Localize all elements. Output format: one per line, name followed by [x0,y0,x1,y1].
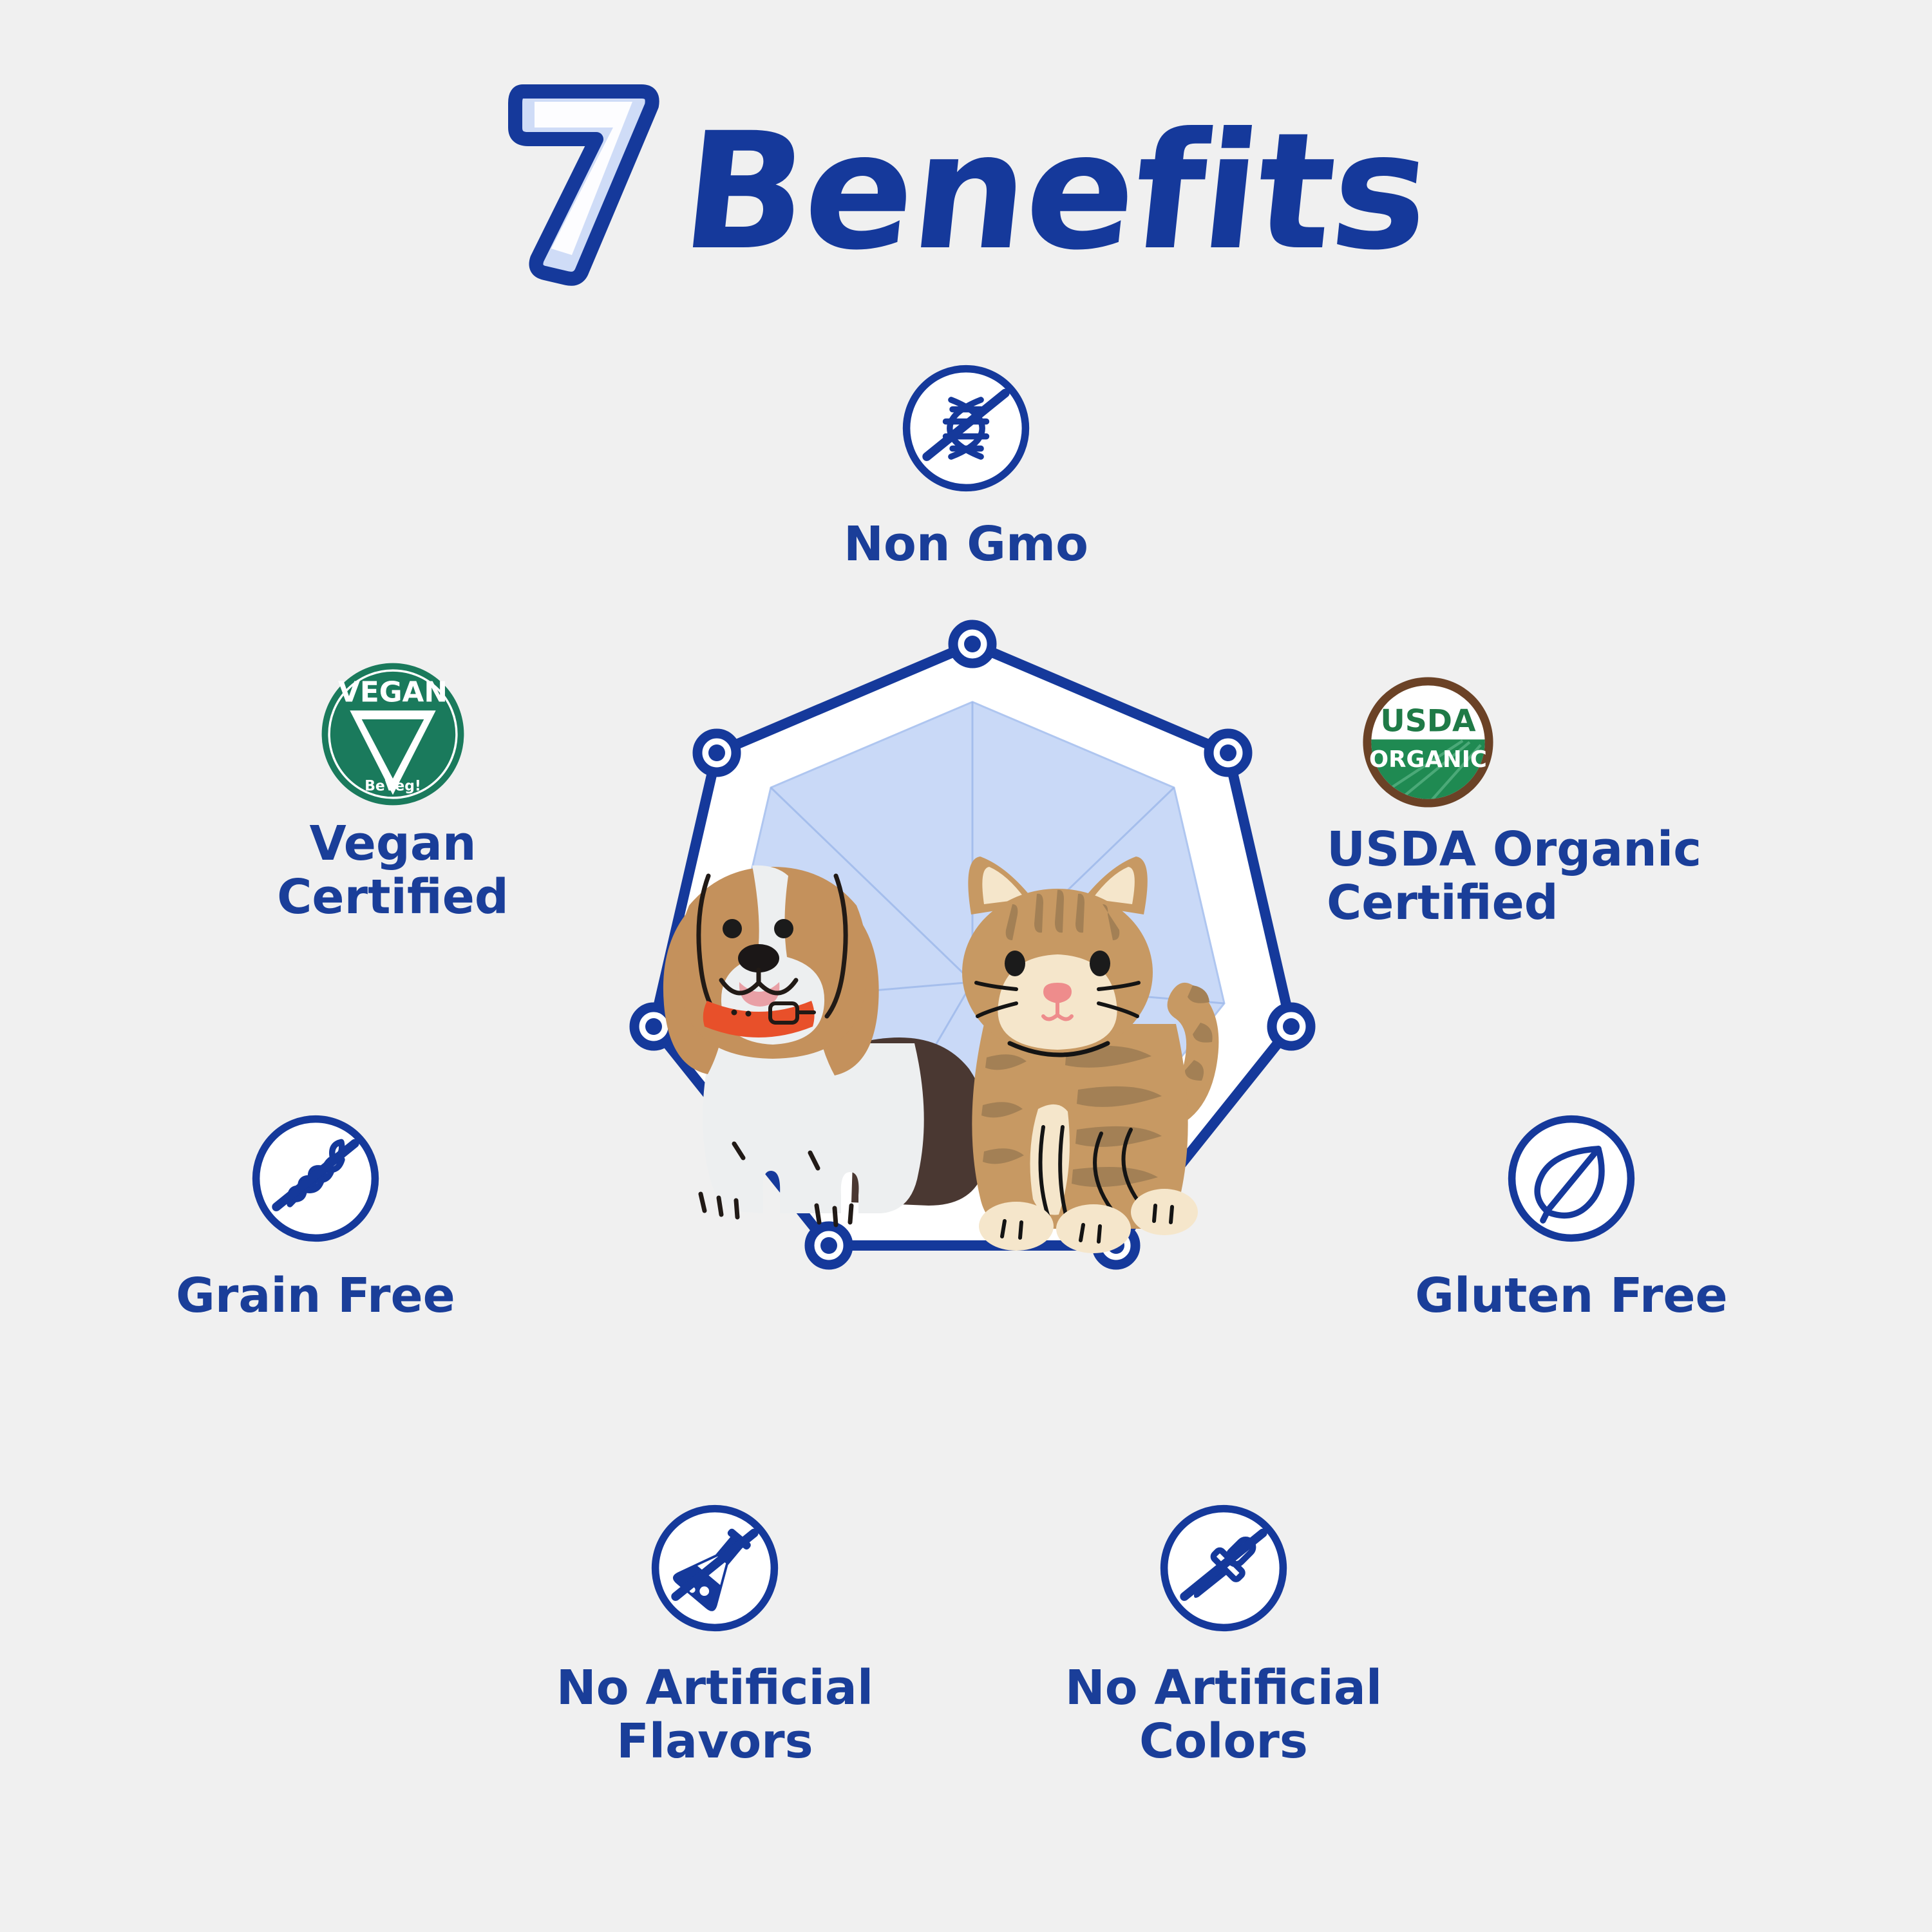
benefit-usda-organic-certified[interactable]: USDA ORGANIC USDA Organic Certified [1327,673,1777,930]
title-word: Benefits [676,111,1436,272]
usda-badge-slot: USDA ORGANIC [1359,673,1497,811]
flask-no-icon [647,1501,782,1636]
non-gmo-icon-slot [898,361,1034,496]
usda-badge-bottom-text: ORGANIC [1369,746,1487,773]
benefit-non-gmo[interactable]: Non Gmo [753,361,1179,571]
dog-eye-left [723,919,742,938]
wheat-no-icon [248,1111,383,1246]
benefit-grain-free[interactable]: Grain Free [122,1111,509,1323]
vegan-badge-slot: VEGAN BeVeg! [319,660,467,808]
benefit-vegan-certified[interactable]: VEGAN BeVeg! Vegan Certified [167,660,618,924]
dropper-no-icon [1156,1501,1291,1636]
usda-organic-badge: USDA ORGANIC [1359,673,1497,811]
infographic-canvas: Benefits [0,0,1932,1932]
benefit-no-artificial-colors[interactable]: No Artificial Colors [1018,1501,1430,1768]
benefit-label: Vegan Certified [277,817,509,924]
benefit-label: No Artificial Flavors [556,1662,873,1768]
benefit-label: Non Gmo [844,518,1088,571]
title-number-7 [505,77,672,290]
page-title: Benefits [0,77,1932,290]
beagle-dog [663,866,990,1225]
vegan-badge-top-text: VEGAN [338,676,448,708]
benefit-label: Gluten Free [1415,1269,1727,1323]
benefit-gluten-free[interactable]: Gluten Free [1372,1111,1771,1323]
dog-and-cat-illustration [644,850,1307,1301]
leaf-icon [1504,1111,1639,1246]
tabby-cat [962,857,1218,1253]
benefit-label: USDA Organic Certified [1327,823,1701,930]
benefit-label: Grain Free [176,1269,455,1323]
benefit-label: No Artificial Colors [1065,1662,1382,1768]
vegan-certified-badge: VEGAN BeVeg! [319,660,467,808]
usda-badge-top-text: USDA [1380,703,1476,739]
no-colors-icon-slot [1156,1501,1291,1636]
cat-eye-right [1090,951,1110,976]
vegan-badge-bottom-text: BeVeg! [365,778,421,794]
benefit-no-artificial-flavors[interactable]: No Artificial Flavors [509,1501,921,1768]
no-flavors-icon-slot [647,1501,782,1636]
cat-eye-left [1005,951,1025,976]
gluten-free-icon-slot [1504,1111,1639,1246]
dna-no-icon [898,361,1034,496]
dog-eye-right [774,919,793,938]
grain-free-icon-slot [248,1111,383,1246]
